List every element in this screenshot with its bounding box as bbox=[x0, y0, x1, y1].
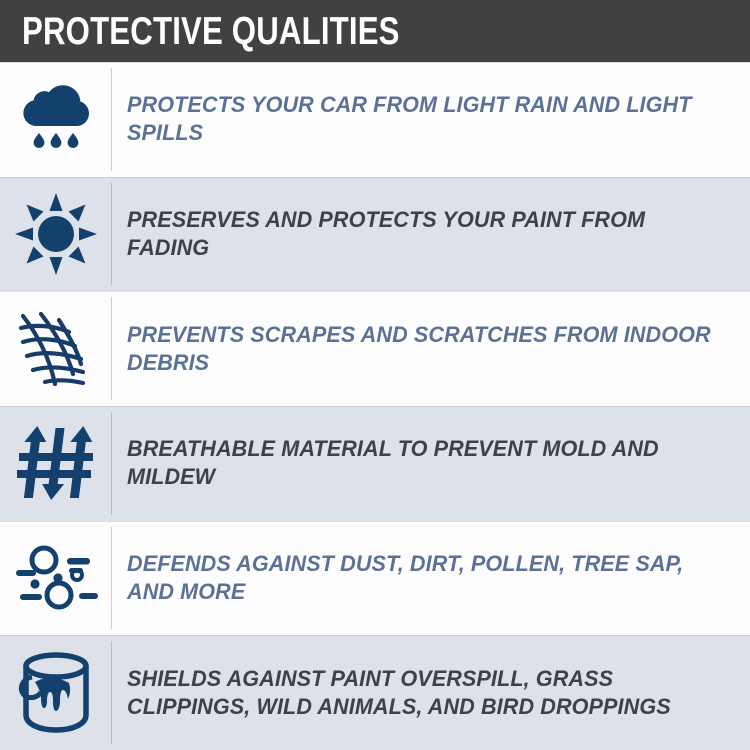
list-item: PRESERVES AND PROTECTS YOUR PAINT FROM F… bbox=[0, 177, 750, 292]
feature-list: PROTECTS YOUR CAR FROM LIGHT RAIN AND LI… bbox=[0, 62, 750, 750]
feature-caption: DEFENDS AGAINST DUST, DIRT, POLLEN, TREE… bbox=[127, 550, 712, 606]
icon-cell bbox=[0, 635, 111, 750]
feature-caption: PRESERVES AND PROTECTS YOUR PAINT FROM F… bbox=[127, 206, 712, 262]
paint-can-icon bbox=[13, 649, 99, 737]
icon-cell bbox=[0, 291, 111, 406]
list-item: PROTECTS YOUR CAR FROM LIGHT RAIN AND LI… bbox=[0, 62, 750, 177]
text-cell: SHIELDS AGAINST PAINT OVERSPILL, GRASS C… bbox=[111, 635, 750, 750]
sun-icon bbox=[13, 191, 99, 277]
list-item: PREVENTS SCRAPES AND SCRATCHES FROM INDO… bbox=[0, 291, 750, 406]
feature-caption: PREVENTS SCRAPES AND SCRATCHES FROM INDO… bbox=[127, 321, 712, 377]
scratch-mesh-icon bbox=[11, 304, 101, 394]
feature-caption: BREATHABLE MATERIAL TO PREVENT MOLD AND … bbox=[127, 435, 712, 491]
header-bar: PROTECTIVE QUALITIES bbox=[0, 0, 750, 62]
breathable-airflow-icon bbox=[13, 420, 99, 506]
list-item: DEFENDS AGAINST DUST, DIRT, POLLEN, TREE… bbox=[0, 521, 750, 636]
icon-cell bbox=[0, 62, 111, 177]
text-cell: PRESERVES AND PROTECTS YOUR PAINT FROM F… bbox=[111, 177, 750, 292]
page-title: PROTECTIVE QUALITIES bbox=[22, 12, 400, 51]
text-cell: PROTECTS YOUR CAR FROM LIGHT RAIN AND LI… bbox=[111, 62, 750, 177]
feature-caption: SHIELDS AGAINST PAINT OVERSPILL, GRASS C… bbox=[127, 665, 712, 721]
dust-particles-icon bbox=[11, 537, 101, 619]
feature-caption: PROTECTS YOUR CAR FROM LIGHT RAIN AND LI… bbox=[127, 91, 712, 147]
text-cell: PREVENTS SCRAPES AND SCRATCHES FROM INDO… bbox=[111, 291, 750, 406]
list-item: SHIELDS AGAINST PAINT OVERSPILL, GRASS C… bbox=[0, 635, 750, 750]
rain-cloud-icon bbox=[13, 76, 99, 162]
list-item: BREATHABLE MATERIAL TO PREVENT MOLD AND … bbox=[0, 406, 750, 521]
text-cell: DEFENDS AGAINST DUST, DIRT, POLLEN, TREE… bbox=[111, 521, 750, 636]
protective-qualities-infographic: PROTECTIVE QUALITIES PROTECTS YOUR CAR F… bbox=[0, 0, 750, 750]
icon-cell bbox=[0, 177, 111, 292]
text-cell: BREATHABLE MATERIAL TO PREVENT MOLD AND … bbox=[111, 406, 750, 521]
icon-cell bbox=[0, 406, 111, 521]
icon-cell bbox=[0, 521, 111, 636]
